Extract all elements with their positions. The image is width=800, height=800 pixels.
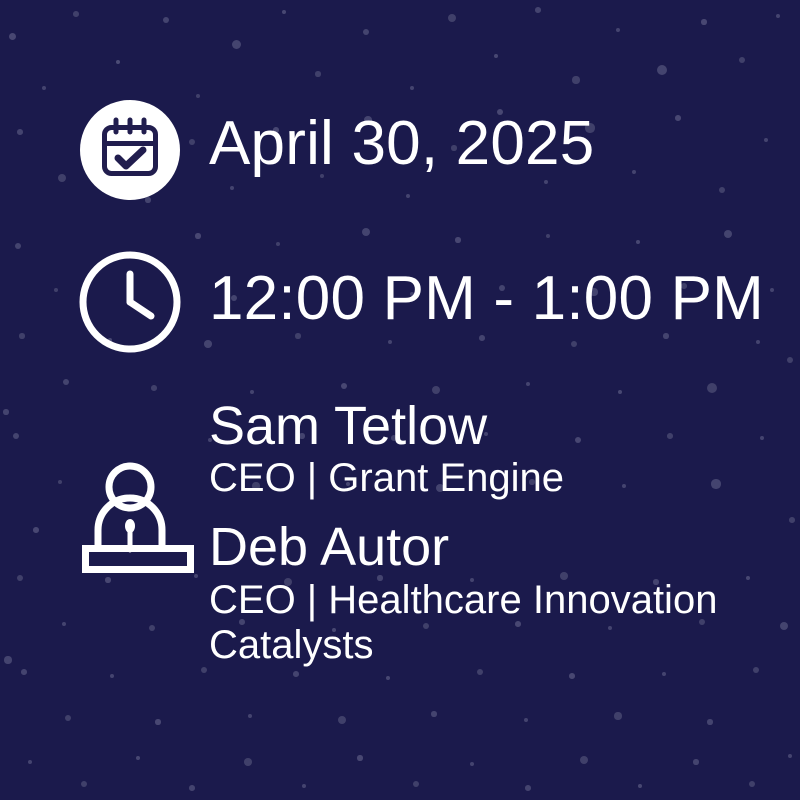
speaker-item: Deb Autor CEO | Healthcare Innovation Ca… [209, 519, 794, 668]
speaker-title: CEO | Grant Engine [209, 456, 794, 501]
event-date-text: April 30, 2025 [209, 108, 594, 179]
speaker-podium-icon [80, 458, 196, 574]
clock-icon [78, 250, 182, 354]
event-details-card: April 30, 2025 12:00 PM - 1:00 PM [0, 0, 800, 800]
speaker-title: CEO | Healthcare Innovation Catalysts [209, 578, 794, 668]
card-content: April 30, 2025 12:00 PM - 1:00 PM [0, 0, 800, 800]
calendar-check-icon [78, 98, 182, 202]
event-time-text: 12:00 PM - 1:00 PM [209, 263, 764, 334]
speaker-item: Sam Tetlow CEO | Grant Engine [209, 398, 794, 501]
speaker-name: Deb Autor [209, 519, 794, 575]
speakers-list: Sam Tetlow CEO | Grant Engine Deb Autor … [209, 398, 794, 668]
speaker-name: Sam Tetlow [209, 398, 794, 454]
